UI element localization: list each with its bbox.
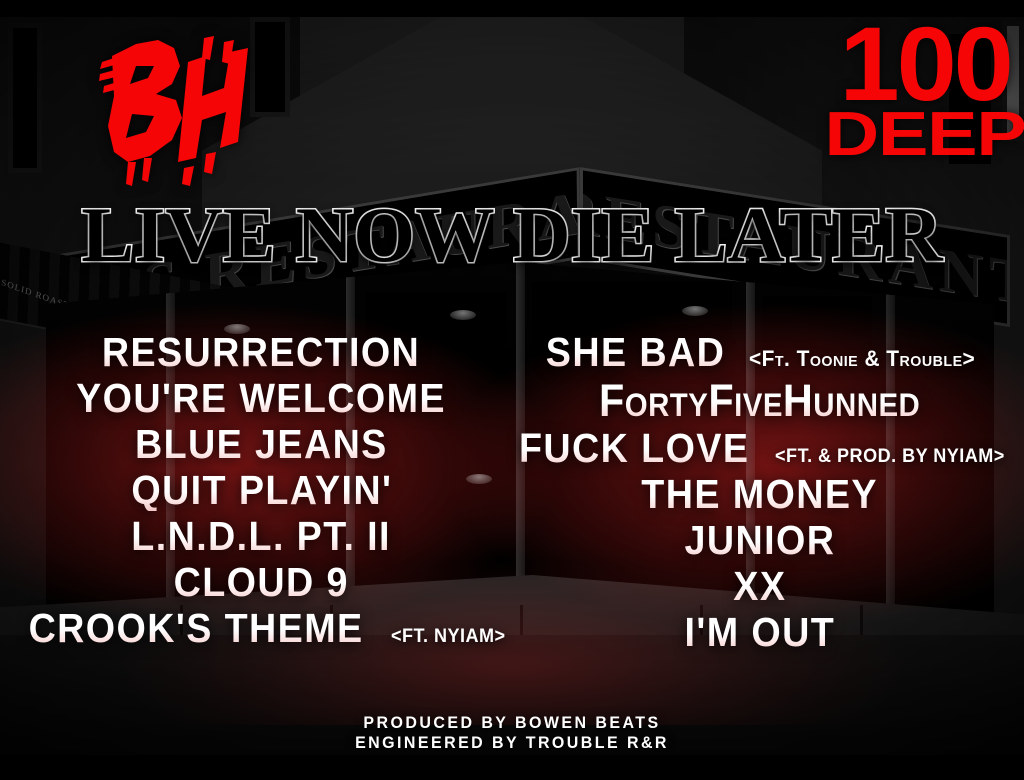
letterbox-bar-top (0, 0, 1024, 17)
track-title: RESURRECTION (102, 332, 420, 373)
track-title: CROOK'S THEME (29, 608, 364, 649)
credit-produced-by: PRODUCED BY BOWEN BEATS (31, 713, 994, 733)
track-title: SHE BAD (546, 332, 725, 373)
track-title: JUNIOR (684, 520, 835, 561)
tracklist-column-right: SHE BAD <Ft. Toonie & Trouble> FortyFive… (509, 332, 1011, 658)
bh-logo-icon (84, 22, 254, 187)
badge-word: DEEP (824, 110, 1024, 161)
track-title: THE MONEY (641, 474, 878, 515)
track-item[interactable]: YOU'RE WELCOME (60, 378, 462, 419)
track-feature-credit: <Ft. Toonie & Trouble> (749, 348, 975, 370)
track-item[interactable]: L.N.D.L. PT. II (120, 516, 402, 557)
track-item[interactable]: I'M OUT (678, 612, 842, 653)
track-title: XX (733, 566, 786, 607)
track-item[interactable]: SHE BAD <Ft. Toonie & Trouble> (538, 332, 981, 373)
page-title: LIVE NOW DIE LATER (0, 196, 1024, 274)
track-item[interactable]: BLUE JEANS (124, 424, 399, 465)
track-item[interactable]: JUNIOR (678, 520, 842, 561)
track-item[interactable]: THE MONEY (631, 474, 888, 515)
track-item[interactable]: CROOK'S THEME <FT. NYIAM> (14, 608, 509, 649)
credits-block: PRODUCED BY BOWEN BEATS ENGINEERED BY TR… (31, 713, 994, 753)
badge-number: 100 (839, 22, 1010, 108)
track-feature-credit: <FT. NYIAM> (391, 627, 506, 646)
track-item[interactable]: FortyFiveHunned (585, 378, 934, 423)
track-feature-credit: <FT. & PROD. BY NYIAM> (775, 447, 1005, 466)
tracklist: RESURRECTION YOU'RE WELCOME BLUE JEANS Q… (0, 332, 1024, 658)
track-title: L.N.D.L. PT. II (132, 516, 392, 557)
track-item[interactable]: CLOUD 9 (166, 562, 356, 603)
track-title: FUCK LOVE (519, 428, 749, 469)
letterbox-bar-bottom (0, 755, 1024, 780)
mixtape-cover: TOM'S RESTAURANT RESTAURANT SOLID ROAST … (0, 0, 1024, 780)
track-title: FortyFiveHunned (599, 378, 920, 423)
credit-engineered-by: ENGINEERED BY TROUBLE R&R (31, 733, 994, 753)
tracklist-column-left: RESURRECTION YOU'RE WELCOME BLUE JEANS Q… (14, 332, 509, 658)
badge-100-deep: 100 DEEP (842, 22, 1008, 161)
track-title: I'M OUT (685, 612, 836, 653)
track-title: YOU'RE WELCOME (76, 378, 446, 419)
cover-content: 100 DEEP LIVE NOW DIE LATER RESURRECTION… (0, 0, 1024, 780)
track-title: QUIT PLAYIN' (131, 470, 392, 511)
track-item[interactable]: FUCK LOVE <FT. & PROD. BY NYIAM> (509, 428, 1011, 469)
track-item[interactable]: XX (731, 566, 789, 607)
track-title: BLUE JEANS (135, 424, 388, 465)
track-item[interactable]: QUIT PLAYIN' (120, 470, 404, 511)
track-item[interactable]: RESURRECTION (88, 332, 434, 373)
track-title: CLOUD 9 (174, 562, 349, 603)
